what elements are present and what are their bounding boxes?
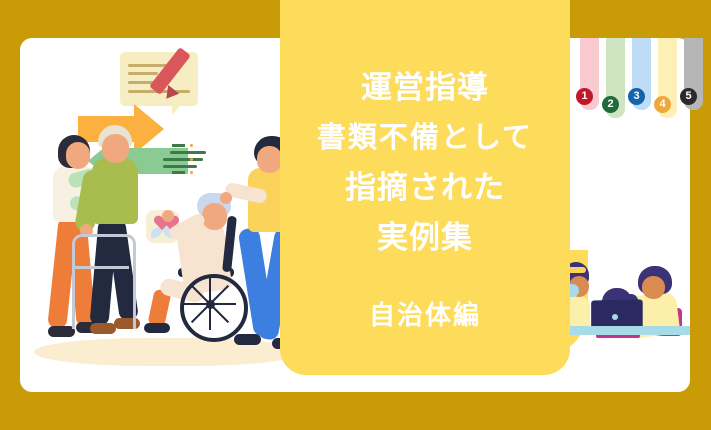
arrow-dot xyxy=(190,171,193,174)
person-hand xyxy=(220,192,232,204)
title-block: 運営指導 書類不備として 指摘された 実例集 自治体編 xyxy=(280,0,570,375)
person-face xyxy=(642,276,665,299)
arrow-data-dash xyxy=(172,171,185,174)
bubble-tail xyxy=(172,104,182,115)
title-line-2: 書類不備として xyxy=(317,113,533,163)
arrow-dot xyxy=(190,144,193,147)
file-tab-number-1: 1 xyxy=(576,88,593,105)
bubble-text-line xyxy=(128,72,158,75)
arrow-data-line xyxy=(170,151,206,154)
arrow-right-head-icon xyxy=(134,104,164,154)
poster: 12345 運営指導 書類不備として 指摘された 実例集 自治体編 xyxy=(0,0,711,430)
person-shoe xyxy=(144,323,170,333)
caregiving-illustration xyxy=(20,38,310,392)
walker-crossbar xyxy=(75,266,129,269)
walker-frame xyxy=(72,234,136,329)
arrow-data-line xyxy=(163,158,203,161)
floor-shadow xyxy=(34,338,302,366)
arrow-data-line xyxy=(163,165,197,168)
title-line-1: 運営指導 xyxy=(361,63,489,113)
person-shoe xyxy=(234,334,261,345)
person-hand xyxy=(162,210,174,222)
subtitle: 自治体編 xyxy=(369,295,481,332)
arrow-dot xyxy=(190,158,193,161)
person-shoe xyxy=(48,326,75,337)
file-tabs-illustration: 12345 xyxy=(570,38,690,148)
file-tab-number-4: 4 xyxy=(654,96,671,113)
file-tab-number-2: 2 xyxy=(602,96,619,113)
wheel-hub xyxy=(206,300,215,309)
person-face xyxy=(102,134,129,163)
title-line-4: 実例集 xyxy=(377,213,473,263)
title-line-3: 指摘された xyxy=(345,163,505,213)
person-face xyxy=(66,142,90,169)
file-tab-number-5: 5 xyxy=(680,88,697,105)
arrow-data-dash xyxy=(172,144,185,147)
laptop-logo-icon xyxy=(612,314,618,320)
person-face xyxy=(202,203,227,230)
person-face xyxy=(257,146,282,173)
file-tab-number-3: 3 xyxy=(628,88,645,105)
